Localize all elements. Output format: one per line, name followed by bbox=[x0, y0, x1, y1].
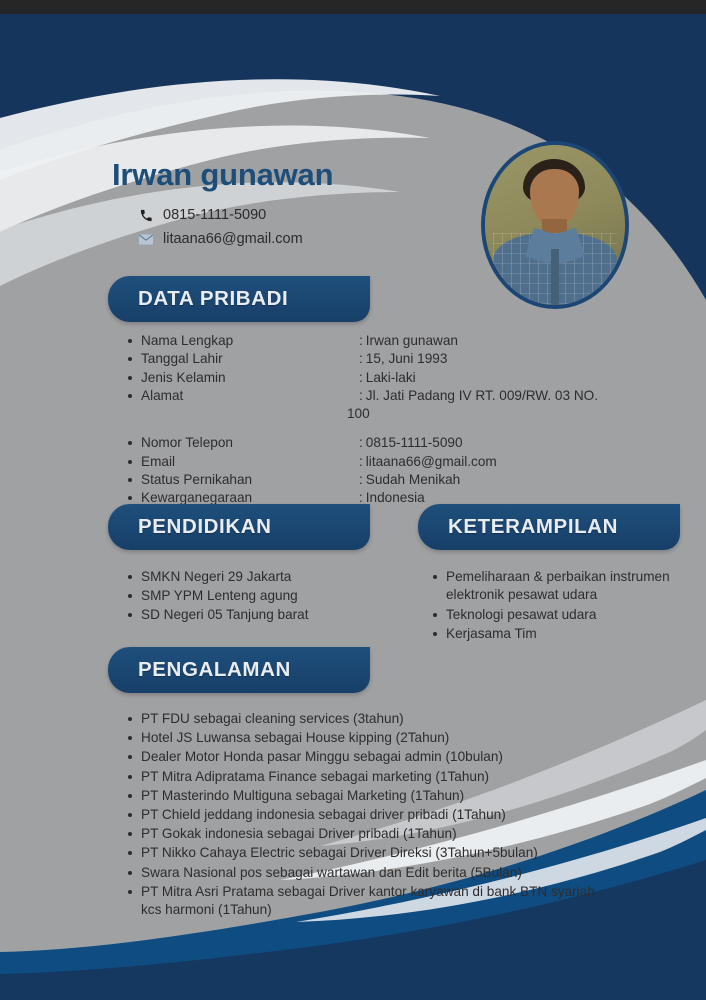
section-title-education: PENDIDIKAN bbox=[138, 504, 272, 550]
list-item: Kerjasama Tim bbox=[430, 625, 688, 643]
section-banner-experience: PENGALAMAN bbox=[108, 647, 370, 693]
row-spacer bbox=[125, 423, 625, 434]
table-row: Nama Lengkap :Irwan gunawan bbox=[125, 332, 625, 350]
list-item: SMKN Negeri 29 Jakarta bbox=[125, 568, 395, 586]
personal-data-table: Nama Lengkap :Irwan gunawan Tanggal Lahi… bbox=[125, 332, 625, 508]
section-title-skills: KETERAMPILAN bbox=[448, 504, 618, 550]
list-item: PT Mitra Adipratama Finance sebagai mark… bbox=[125, 768, 595, 786]
list-item: PT Chield jeddang indonesia sebagai driv… bbox=[125, 806, 595, 824]
table-row: Email :litaana66@gmail.com bbox=[125, 453, 625, 471]
contact-phone[interactable]: 0815-1111-5090 bbox=[136, 204, 333, 226]
header-name-block: Irwan gunawan 0815-1111-5090 litaana66 bbox=[112, 158, 333, 252]
list-item: PT Gokak indonesia sebagai Driver pribad… bbox=[125, 825, 595, 843]
list-item: PT Nikko Cahaya Electric sebagai Driver … bbox=[125, 844, 595, 862]
email-address: litaana66@gmail.com bbox=[163, 231, 303, 247]
field-label: Email bbox=[125, 453, 359, 471]
field-value: :litaana66@gmail.com bbox=[359, 453, 497, 471]
skills-list: Pemeliharaan & perbaikan instrumen elekt… bbox=[430, 568, 688, 645]
field-label: Status Pernikahan bbox=[125, 471, 359, 489]
list-item: PT Masterindo Multiguna sebagai Marketin… bbox=[125, 787, 595, 805]
field-label: Nama Lengkap bbox=[125, 332, 359, 350]
field-value: :Sudah Menikah bbox=[359, 471, 460, 489]
section-title-experience: PENGALAMAN bbox=[138, 647, 291, 693]
phone-number: 0815-1111-5090 bbox=[163, 207, 266, 223]
list-item: Hotel JS Luwansa sebagai House kipping (… bbox=[125, 729, 595, 747]
section-title-personal: DATA PRIBADI bbox=[138, 276, 288, 322]
field-value: :15, Juni 1993 bbox=[359, 350, 447, 368]
envelope-icon bbox=[136, 230, 156, 248]
field-label: Alamat bbox=[125, 387, 359, 405]
list-item: SMP YPM Lenteng agung bbox=[125, 587, 395, 605]
experience-list: PT FDU sebagai cleaning services (3tahun… bbox=[125, 710, 595, 920]
table-row: Alamat :Jl. Jati Padang IV RT. 009/RW. 0… bbox=[125, 387, 625, 405]
field-value: :Jl. Jati Padang IV RT. 009/RW. 03 NO. bbox=[359, 387, 598, 405]
field-value: :Irwan gunawan bbox=[359, 332, 458, 350]
page-title: Irwan gunawan bbox=[112, 158, 333, 192]
field-label: Nomor Telepon bbox=[125, 434, 359, 452]
top-dark-strip bbox=[0, 0, 706, 14]
field-value-continuation: 100 bbox=[125, 405, 625, 423]
section-banner-personal: DATA PRIBADI bbox=[108, 276, 370, 322]
list-item: PT Mitra Asri Pratama sebagai Driver kan… bbox=[125, 883, 595, 919]
education-list: SMKN Negeri 29 Jakarta SMP YPM Lenteng a… bbox=[125, 568, 395, 626]
contact-email[interactable]: litaana66@gmail.com bbox=[136, 228, 333, 250]
portrait-photo bbox=[485, 145, 625, 305]
section-banner-education: PENDIDIKAN bbox=[108, 504, 370, 550]
table-row: Status Pernikahan :Sudah Menikah bbox=[125, 471, 625, 489]
table-row: Tanggal Lahir :15, Juni 1993 bbox=[125, 350, 625, 368]
field-label: Tanggal Lahir bbox=[125, 350, 359, 368]
field-label: Jenis Kelamin bbox=[125, 369, 359, 387]
field-value: :Laki-laki bbox=[359, 369, 416, 387]
resume-page: Irwan gunawan 0815-1111-5090 litaana66 bbox=[0, 0, 706, 1000]
field-value: :0815-1111-5090 bbox=[359, 434, 463, 452]
avatar bbox=[481, 141, 629, 309]
list-item: Dealer Motor Honda pasar Minggu sebagai … bbox=[125, 748, 595, 766]
list-item: PT FDU sebagai cleaning services (3tahun… bbox=[125, 710, 595, 728]
list-item: SD Negeri 05 Tanjung barat bbox=[125, 606, 395, 624]
phone-icon bbox=[136, 206, 156, 224]
list-item: Swara Nasional pos sebagai wartawan dan … bbox=[125, 864, 595, 882]
contact-list: 0815-1111-5090 litaana66@gmail.com bbox=[136, 204, 333, 250]
list-item: Pemeliharaan & perbaikan instrumen elekt… bbox=[430, 568, 688, 605]
list-item: Teknologi pesawat udara bbox=[430, 606, 688, 624]
table-row: Jenis Kelamin :Laki-laki bbox=[125, 369, 625, 387]
table-row: Nomor Telepon :0815-1111-5090 bbox=[125, 434, 625, 452]
section-banner-skills: KETERAMPILAN bbox=[418, 504, 680, 550]
